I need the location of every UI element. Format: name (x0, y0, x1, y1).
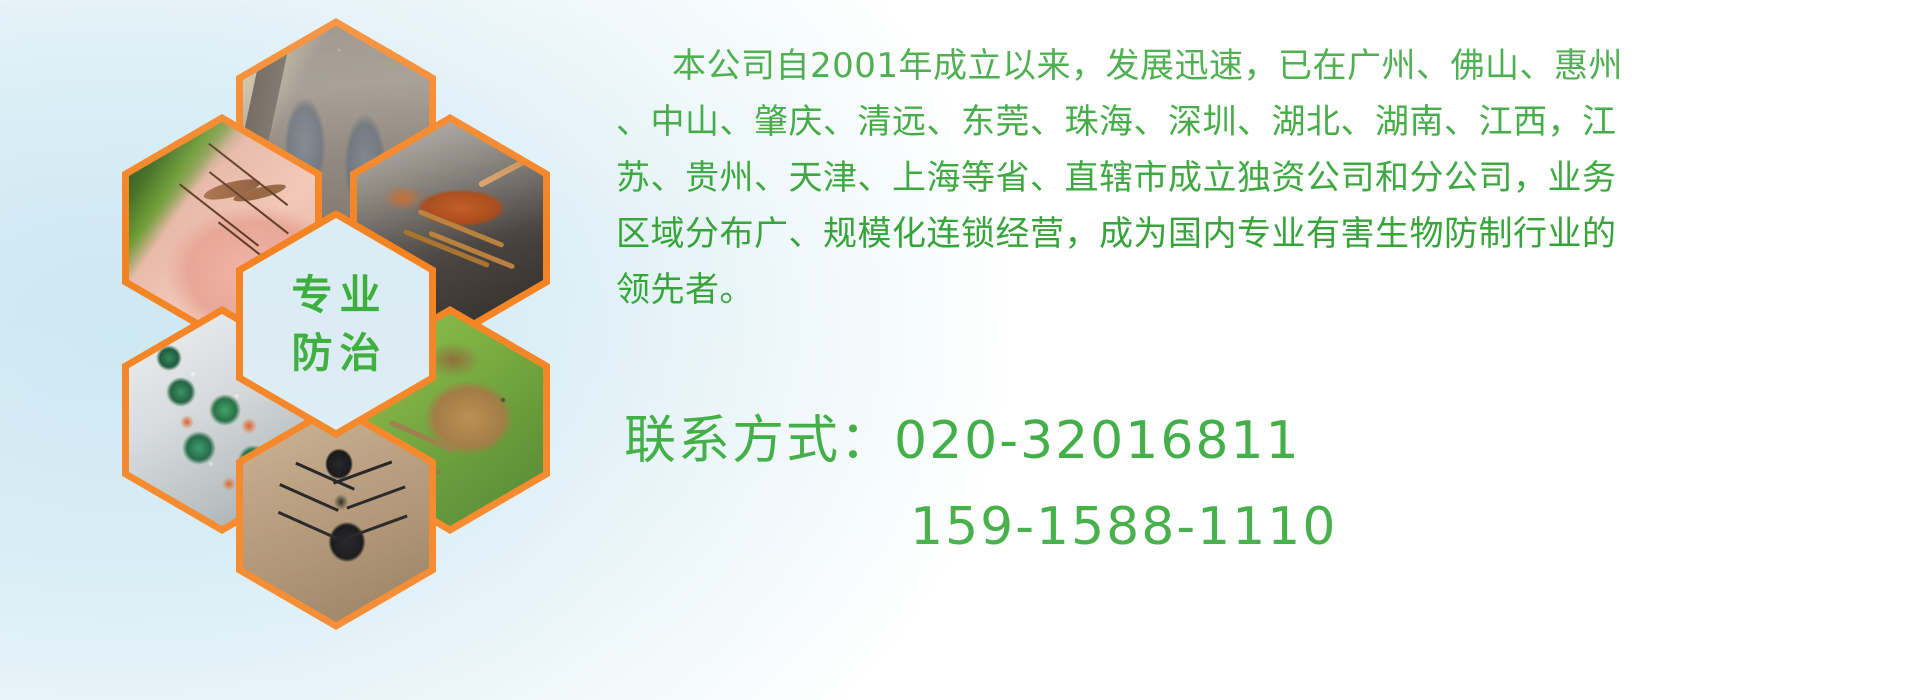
intro-line-5: 领先者。 (616, 262, 1906, 318)
intro-line-1: 本公司自2001年成立以来，发展迅速，已在广州、佛山、惠州 (616, 38, 1906, 94)
honeycomb-collage: 专业 防治 (88, 4, 588, 584)
contact-block: 联系方式：020-32016811 159-1588-1110 (624, 398, 1824, 570)
intro-paragraph: 本公司自2001年成立以来，发展迅速，已在广州、佛山、惠州 、中山、肇庆、清远、… (616, 38, 1906, 318)
slogan-text: 专业 防治 (285, 266, 388, 382)
intro-line-2: 、中山、肇庆、清远、东莞、珠海、深圳、湖北、湖南、江西，江 (616, 94, 1906, 150)
hex-inner-slogan: 专业 防治 (243, 218, 429, 430)
promo-banner: 专业 防治 本公司自2001年成立以来，发展迅速，已在广州、佛山、惠州 、中山、… (0, 0, 1920, 700)
intro-line-3: 苏、贵州、天津、上海等省、直辖市成立独资公司和分公司，业务 (616, 150, 1906, 206)
hex-inner-ant (243, 410, 429, 622)
intro-line-4: 区域分布广、规模化连锁经营，成为国内专业有害生物防制行业的 (616, 206, 1906, 262)
slogan-line-1: 专业 (285, 266, 388, 324)
ant-photo (243, 410, 429, 622)
contact-secondary-phone[interactable]: 159-1588-1110 (624, 484, 1824, 570)
slogan-line-2: 防治 (285, 324, 388, 382)
contact-primary-phone[interactable]: 联系方式：020-32016811 (624, 398, 1824, 484)
